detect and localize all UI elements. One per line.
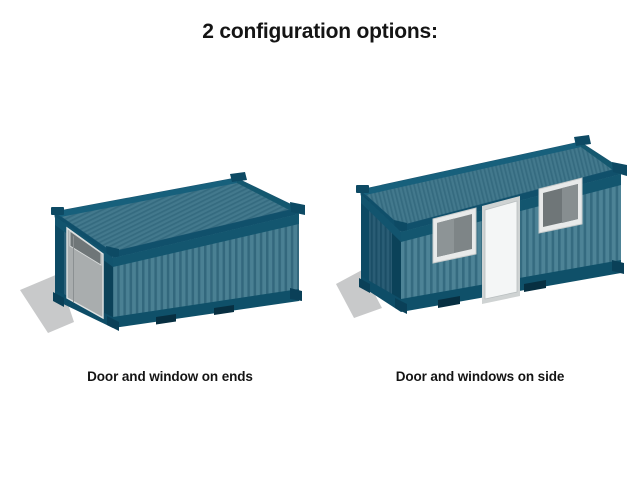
side-window-left-glass-highlight [437, 219, 454, 258]
corner-casting-top-back [230, 172, 247, 182]
corner-casting-top-left [51, 207, 64, 215]
end-door-seam [73, 236, 74, 303]
caption-door-window-on-ends: Door and window on ends [20, 369, 320, 384]
side-window-right-glass-highlight [562, 184, 578, 223]
side-door-panel[interactable] [485, 201, 517, 299]
page-title: 2 configuration options: [0, 20, 640, 44]
corner-casting-top-left [356, 185, 369, 193]
figure-container-door-windows-on-side [334, 132, 634, 332]
figure-container-door-window-on-ends [18, 170, 318, 355]
container-side-illustration [334, 132, 634, 332]
corner-casting-top-back [574, 135, 591, 146]
caption-door-windows-on-side: Door and windows on side [340, 369, 620, 384]
slide-canvas: 2 configuration options: [0, 0, 640, 480]
container-ends-illustration [18, 170, 318, 355]
corner-casting-bottom-right [290, 288, 302, 301]
